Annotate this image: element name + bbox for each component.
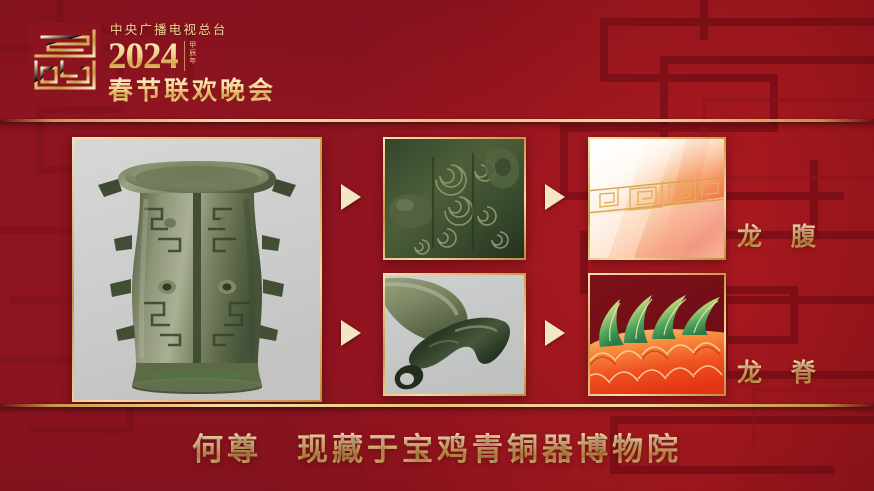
artifact-caption: 何尊 现藏于宝鸡青铜器博物院 xyxy=(0,424,874,469)
gala-graphic-slide: 中央广播电视总台 2024 甲辰年 春节联欢晚会 xyxy=(0,0,874,491)
divider-bottom-shadow xyxy=(0,407,874,416)
bronze-flange-ridge-detail-photo xyxy=(383,273,526,396)
triangle-right-icon xyxy=(341,320,361,346)
label-dragon-spine: 龙 脊 xyxy=(737,353,826,389)
header-bar: 中央广播电视总台 2024 甲辰年 春节联欢晚会 xyxy=(0,0,874,119)
triangle-right-icon xyxy=(341,184,361,210)
label-dragon-belly: 龙 腹 xyxy=(737,217,826,253)
bronze-belly-leiwen-detail-photo xyxy=(383,137,526,260)
divider-top-shadow xyxy=(0,122,874,131)
ganzhi-year-label: 甲辰年 xyxy=(184,41,197,71)
dragon-belly-illustration xyxy=(588,137,726,260)
gala-wordmark: 中央广播电视总台 2024 甲辰年 春节联欢晚会 xyxy=(108,24,338,104)
year-number: 2024 xyxy=(108,39,178,74)
program-title: 春节联欢晚会 xyxy=(108,77,338,105)
year-row: 2024 甲辰年 xyxy=(108,39,338,74)
triangle-right-icon xyxy=(545,320,565,346)
he-zun-bronze-vessel-photo xyxy=(72,137,322,402)
cctv-spring-gala-seal-logo-icon xyxy=(28,22,102,96)
dragon-spine-illustration xyxy=(588,273,726,396)
triangle-right-icon xyxy=(545,184,565,210)
broadcaster-name: 中央广播电视总台 xyxy=(110,24,338,37)
